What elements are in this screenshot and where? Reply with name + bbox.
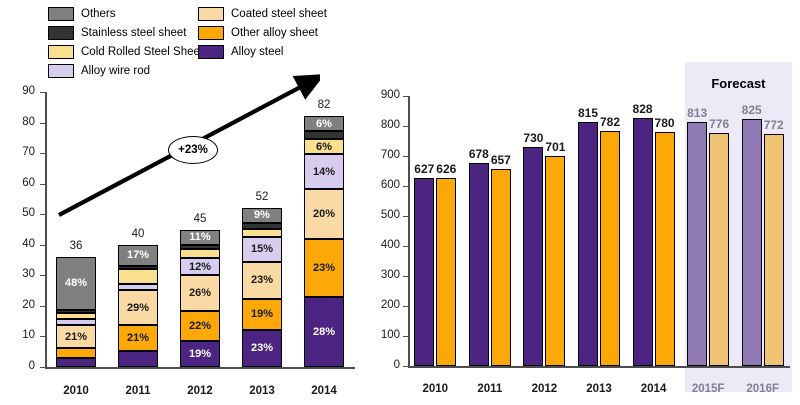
legend-swatch-coated-icon: [198, 7, 224, 21]
stacked-bar-segment: [118, 351, 158, 367]
y-axis-tick-label: 20: [3, 300, 35, 311]
growth-percentage-callout: +23%: [168, 136, 218, 164]
x-axis-tick-label: 2014: [290, 385, 358, 397]
segment-value-label: 26%: [189, 287, 211, 299]
y-axis-tick: [403, 276, 408, 277]
stacked-bar-segment: 23%: [304, 239, 344, 297]
grouped-bar-value-label: 772: [751, 119, 797, 131]
grouped-bar: [578, 122, 598, 367]
y-axis-tick-label: 50: [3, 208, 35, 219]
x-axis-tick-label: 2010: [42, 385, 110, 397]
y-axis-tick: [403, 156, 408, 157]
x-axis-tick-label: 2013: [569, 383, 629, 395]
stacked-bar-segment: [56, 319, 96, 326]
legend-left-label: Other alloy sheet: [231, 26, 318, 40]
x-axis-tick-label: 2011: [460, 383, 520, 395]
segment-value-label: 28%: [313, 326, 335, 338]
y-axis-tick-label: 30: [3, 269, 35, 280]
stacked-bar-segment: [56, 348, 96, 358]
y-axis-tick-label: 600: [368, 180, 400, 191]
grouped-bar: [600, 131, 620, 366]
x-axis-tick-label: 2016F: [733, 383, 793, 395]
stacked-bar-segment: [118, 266, 158, 270]
x-axis-tick-label: 2010: [405, 383, 465, 395]
legend-left-item[interactable]: Coated steel sheet: [198, 4, 327, 23]
segment-value-label: 22%: [189, 320, 211, 332]
segment-value-label: 23%: [313, 262, 335, 274]
segment-value-label: 23%: [251, 274, 273, 286]
grouped-bar: [742, 119, 762, 367]
grouped-bar: [491, 169, 511, 366]
stacked-bar-segment: 19%: [242, 299, 282, 330]
segment-value-label: 23%: [251, 342, 273, 354]
grouped-bar: [655, 132, 675, 366]
y-axis-tick-label: 60: [3, 178, 35, 189]
stacked-bar-segment: [56, 358, 96, 367]
forecast-title: Forecast: [678, 76, 798, 91]
y-axis-tick: [40, 214, 45, 215]
legend-swatch-cold-rolled-icon: [48, 45, 74, 59]
y-axis-tick: [403, 246, 408, 247]
grouped-bar: [545, 156, 565, 366]
y-axis-line: [408, 96, 410, 368]
y-axis-tick-label: 70: [3, 147, 35, 158]
y-axis-tick: [40, 92, 45, 93]
x-axis-tick-label: 2013: [228, 385, 296, 397]
legend-swatch-alloy-steel-icon: [198, 45, 224, 59]
y-axis-tick: [40, 367, 45, 368]
grouped-bar: [523, 147, 543, 366]
stacked-bar-segment: 19%: [180, 341, 220, 367]
legend-left-item[interactable]: Stainless steel sheet: [48, 23, 203, 42]
segment-value-label: 48%: [65, 277, 87, 289]
y-axis-tick: [40, 153, 45, 154]
stacked-bar-segment: 22%: [180, 311, 220, 341]
stacked-bar-segment: 23%: [242, 330, 282, 367]
legend-left-label: Alloy steel: [231, 45, 283, 59]
y-axis-tick-label: 100: [368, 330, 400, 341]
segment-value-label: 19%: [189, 348, 211, 360]
y-axis-tick-label: 700: [368, 150, 400, 161]
legend-left-item[interactable]: Other alloy sheet: [198, 23, 327, 42]
stacked-bar-segment: 17%: [118, 245, 158, 266]
x-axis-tick-label: 2015F: [678, 383, 738, 395]
stacked-bar-total-label: 36: [46, 240, 106, 252]
segment-value-label: 12%: [189, 261, 211, 273]
grouped-bar: [633, 118, 653, 366]
y-axis-tick: [40, 245, 45, 246]
grouped-bar: [436, 178, 456, 366]
stacked-bar-segment: [56, 313, 96, 319]
legend-left-column-1: OthersStainless steel sheetCold Rolled S…: [48, 4, 203, 80]
stacked-bar-segment: [118, 269, 158, 284]
y-axis-tick-label: 200: [368, 300, 400, 311]
stacked-bar-segment: 12%: [180, 258, 220, 275]
segment-value-label: 21%: [65, 331, 87, 343]
stacked-bar-chart-panel: OthersStainless steel sheetCold Rolled S…: [0, 0, 370, 405]
legend-left-column-2: Coated steel sheetOther alloy sheetAlloy…: [198, 4, 327, 61]
legend-left-label: Coated steel sheet: [231, 7, 327, 21]
y-axis-tick: [40, 306, 45, 307]
grouped-bar: [469, 163, 489, 366]
growth-percentage-text: +23%: [178, 144, 208, 156]
y-axis-tick: [403, 366, 408, 367]
y-axis-tick: [403, 216, 408, 217]
grouped-bar: [687, 122, 707, 366]
legend-left-label: Cold Rolled Steel Sheet: [81, 45, 203, 59]
y-axis-tick-label: 40: [3, 239, 35, 250]
x-axis-tick-label: 2012: [166, 385, 234, 397]
stacked-bar-segment: [242, 223, 282, 229]
x-axis-tick-label: 2012: [514, 383, 574, 395]
grouped-bar: [709, 133, 729, 366]
y-axis-tick-label: 300: [368, 270, 400, 281]
stacked-bar-segment: 29%: [118, 290, 158, 325]
y-axis-tick: [403, 186, 408, 187]
grouped-bar-chart-panel: ProductionConsumption Forecast 010020030…: [370, 0, 800, 405]
segment-value-label: 29%: [127, 302, 149, 314]
stacked-bar-segment: 48%: [56, 257, 96, 310]
grouped-bar-value-label: 626: [423, 163, 469, 175]
stacked-bar-segment: [180, 245, 220, 249]
stacked-bar-total-label: 40: [108, 228, 168, 240]
segment-value-label: 11%: [189, 231, 210, 243]
grouped-bar: [764, 134, 784, 366]
y-axis-tick: [403, 96, 408, 97]
grouped-bar-value-label: 828: [620, 103, 666, 115]
x-axis-tick-label: 2011: [104, 385, 172, 397]
y-axis-tick-label: 400: [368, 240, 400, 251]
y-axis-tick: [40, 123, 45, 124]
legend-left-label: Stainless steel sheet: [81, 26, 186, 40]
grouped-bar-value-label: 701: [532, 141, 578, 153]
grouped-bar-value-label: 825: [729, 104, 775, 116]
y-axis-tick-label: 0: [368, 360, 400, 371]
y-axis-tick-label: 0: [3, 361, 35, 372]
y-axis-tick: [40, 184, 45, 185]
stacked-bar-segment: [56, 310, 96, 313]
segment-value-label: 17%: [127, 249, 149, 261]
stacked-bar-segment: [242, 229, 282, 237]
stacked-bar-segment: 21%: [118, 325, 158, 351]
y-axis-tick: [403, 336, 408, 337]
x-axis-line: [45, 367, 355, 369]
stacked-bar-segment: 11%: [180, 230, 220, 245]
legend-swatch-others-icon: [48, 7, 74, 21]
x-axis-tick-label: 2014: [624, 383, 684, 395]
legend-left-item[interactable]: Others: [48, 4, 203, 23]
legend-left-item[interactable]: Cold Rolled Steel Sheet: [48, 42, 203, 61]
y-axis-tick: [403, 126, 408, 127]
legend-left-label: Others: [81, 7, 116, 21]
grouped-bar-value-label: 776: [696, 118, 742, 130]
y-axis-tick-label: 10: [3, 330, 35, 341]
stacked-bar-segment: 15%: [242, 237, 282, 261]
stacked-bar-segment: 28%: [304, 297, 344, 367]
legend-swatch-stainless-icon: [48, 26, 74, 40]
y-axis-tick-label: 80: [3, 117, 35, 128]
y-axis-tick-label: 500: [368, 210, 400, 221]
stacked-bar-segment: [180, 249, 220, 259]
grouped-bar: [414, 178, 434, 366]
y-axis-line: [45, 92, 47, 369]
segment-value-label: 19%: [251, 308, 273, 320]
segment-value-label: 21%: [127, 332, 149, 344]
grouped-bar-value-label: 782: [587, 116, 633, 128]
stacked-bar-segment: 21%: [56, 325, 96, 348]
y-axis-tick-label: 800: [368, 120, 400, 131]
y-axis-tick: [403, 306, 408, 307]
stacked-bar-segment: [118, 284, 158, 290]
y-axis-tick: [40, 275, 45, 276]
x-axis-line: [408, 366, 790, 368]
stacked-bar-segment: 23%: [242, 262, 282, 299]
y-axis-tick-label: 90: [3, 86, 35, 97]
stacked-bar-segment: 26%: [180, 275, 220, 311]
y-axis-tick-label: 900: [368, 90, 400, 101]
segment-value-label: 15%: [251, 243, 273, 255]
y-axis-tick: [40, 336, 45, 337]
grouped-bar-value-label: 657: [478, 154, 524, 166]
legend-swatch-other-alloy-icon: [198, 26, 224, 40]
legend-left-item[interactable]: Alloy steel: [198, 42, 327, 61]
